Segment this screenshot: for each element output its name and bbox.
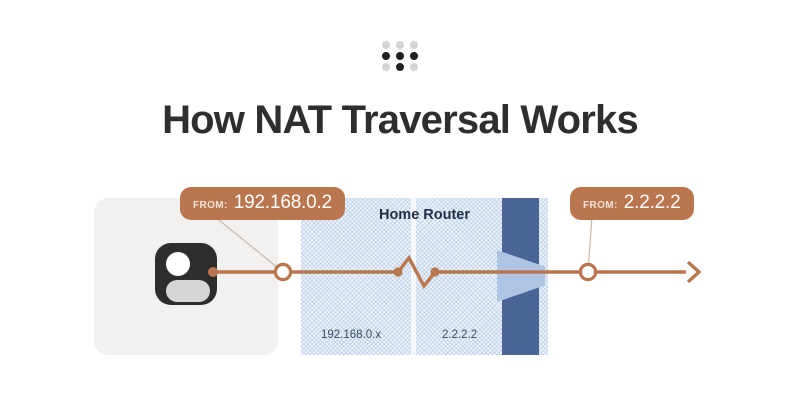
router-wan-address-label: 2.2.2.2: [442, 329, 477, 341]
dot-grid-logo: [379, 40, 421, 72]
from-badge-lan: FROM: 192.168.0.2: [180, 187, 345, 220]
from-badge-lan-value: 192.168.0.2: [234, 192, 332, 214]
diagram-canvas: How NAT Traversal Works Home Router 192.…: [0, 0, 800, 400]
logo-dot: [382, 63, 390, 71]
logo-dot: [410, 63, 418, 71]
logo-dot: [396, 63, 404, 71]
flow-arrowhead-icon: [688, 262, 699, 282]
logo-dot: [396, 41, 404, 49]
user-device-icon: [155, 243, 217, 305]
packet-node-wan: [580, 264, 595, 279]
logo-dot: [382, 52, 390, 60]
callout-leader-line-wan: [588, 216, 592, 272]
from-badge-wan-label: FROM:: [583, 200, 618, 211]
logo-dot: [396, 52, 404, 60]
logo-dot: [410, 52, 418, 60]
avatar-head-shape: [166, 252, 190, 276]
logo-dot: [382, 41, 390, 49]
router-lan-subnet-label: 192.168.0.x: [321, 329, 381, 341]
avatar-body-shape: [166, 280, 210, 302]
from-badge-wan-value: 2.2.2.2: [624, 192, 681, 214]
home-router-panel: Home Router 192.168.0.x 2.2.2.2: [301, 198, 548, 355]
logo-dot: [410, 41, 418, 49]
from-badge-wan: FROM: 2.2.2.2: [570, 187, 694, 220]
from-badge-lan-label: FROM:: [193, 200, 228, 211]
page-title: How NAT Traversal Works: [0, 96, 800, 144]
